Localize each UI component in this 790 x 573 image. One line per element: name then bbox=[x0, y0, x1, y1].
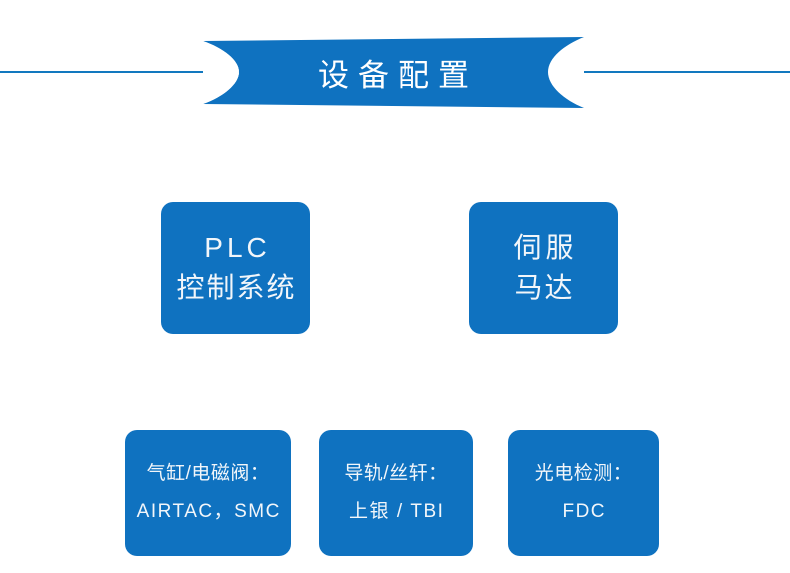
header-area: 设备配置 bbox=[0, 0, 790, 130]
card-photoelectric[interactable]: 光电检测： FDC bbox=[508, 430, 659, 556]
card-servo[interactable]: 伺服 马达 bbox=[469, 202, 618, 334]
card-plc-line-2: 控制系统 bbox=[174, 268, 296, 308]
card-plc[interactable]: PLC 控制系统 bbox=[161, 202, 310, 334]
card-photoelectric-line-2: FDC bbox=[561, 493, 606, 531]
card-cylinder[interactable]: 气缸/电磁阀： AIRTAC，SMC bbox=[125, 430, 291, 556]
card-cylinder-line-1: 气缸/电磁阀： bbox=[147, 455, 270, 493]
card-rail-line-1: 导轨/丝轩： bbox=[344, 455, 447, 493]
card-servo-line-1: 伺服 bbox=[509, 228, 577, 268]
card-plc-line-1: PLC bbox=[200, 228, 270, 268]
card-rail-line-2: 上银 / TBI bbox=[348, 493, 445, 531]
page-title: 设备配置 bbox=[203, 37, 584, 108]
card-photoelectric-line-1: 光电检测： bbox=[535, 455, 633, 493]
card-rail[interactable]: 导轨/丝轩： 上银 / TBI bbox=[319, 430, 473, 556]
card-servo-line-2: 马达 bbox=[512, 268, 574, 308]
card-cylinder-line-2: AIRTAC，SMC bbox=[135, 493, 281, 531]
